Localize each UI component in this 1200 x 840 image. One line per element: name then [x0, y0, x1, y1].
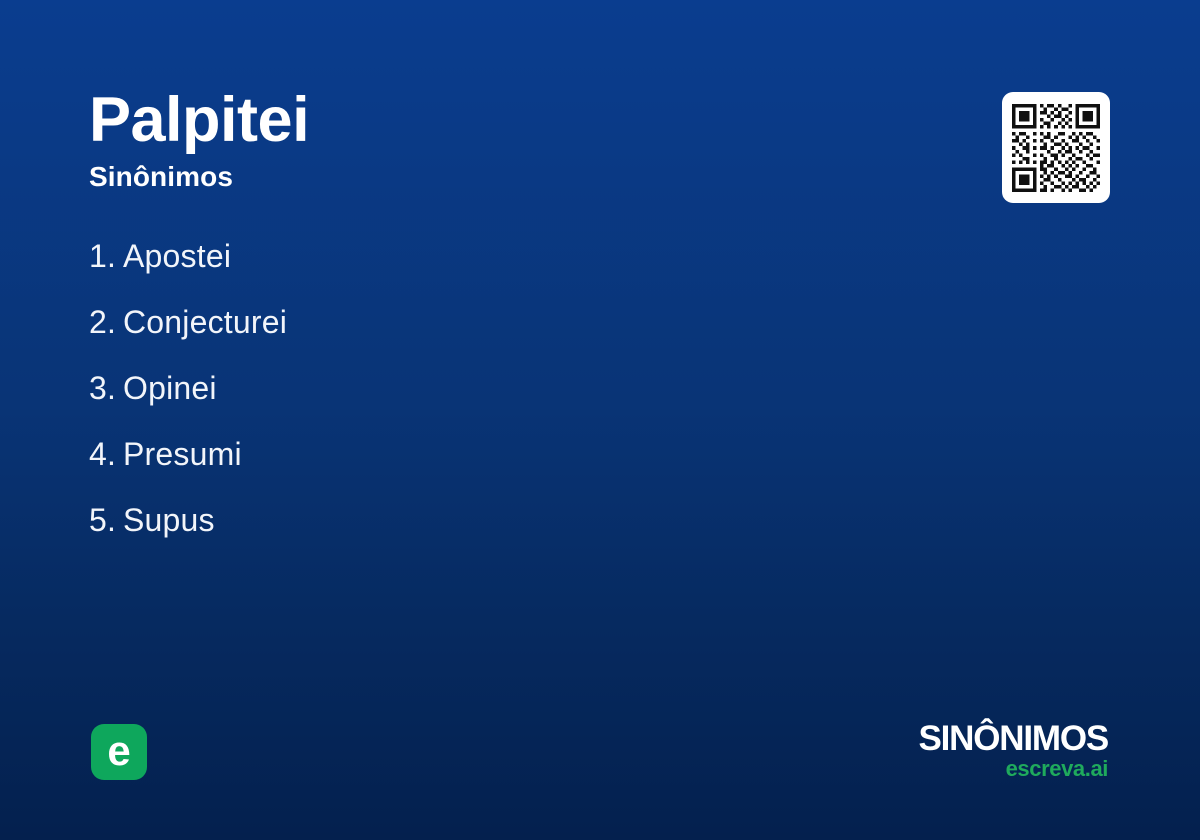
list-item: 2.Conjecturei [89, 300, 849, 366]
list-item: 5.Supus [89, 498, 849, 564]
list-item-word: Presumi [123, 436, 242, 472]
list-item-index: 2. [89, 300, 123, 344]
brand-name: SINÔNIMOS [919, 722, 1109, 756]
synonym-card: Palpitei Sinônimos 1.Apostei 2.Conjectur… [0, 0, 1200, 840]
list-item: 1.Apostei [89, 234, 849, 300]
list-item-word: Supus [123, 502, 215, 538]
page-subtitle: Sinônimos [89, 161, 789, 193]
list-item-index: 1. [89, 234, 123, 278]
qr-code-icon [1012, 104, 1100, 192]
brand-domain: escreva.ai [919, 757, 1109, 781]
app-badge[interactable]: e [91, 724, 147, 780]
list-item-index: 4. [89, 432, 123, 476]
list-item-index: 3. [89, 366, 123, 410]
brand-lockup: SINÔNIMOS escreva.ai [919, 722, 1109, 781]
list-item-index: 5. [89, 498, 123, 542]
qr-code-panel[interactable] [1002, 92, 1110, 203]
list-item-word: Apostei [123, 238, 231, 274]
list-item-word: Opinei [123, 370, 217, 406]
card-header: Palpitei Sinônimos [89, 88, 789, 193]
page-title: Palpitei [89, 88, 789, 152]
list-item-word: Conjecturei [123, 304, 287, 340]
list-item: 3.Opinei [89, 366, 849, 432]
list-item: 4.Presumi [89, 432, 849, 498]
synonym-list: 1.Apostei 2.Conjecturei 3.Opinei 4.Presu… [89, 234, 849, 564]
app-badge-letter: e [107, 730, 130, 772]
